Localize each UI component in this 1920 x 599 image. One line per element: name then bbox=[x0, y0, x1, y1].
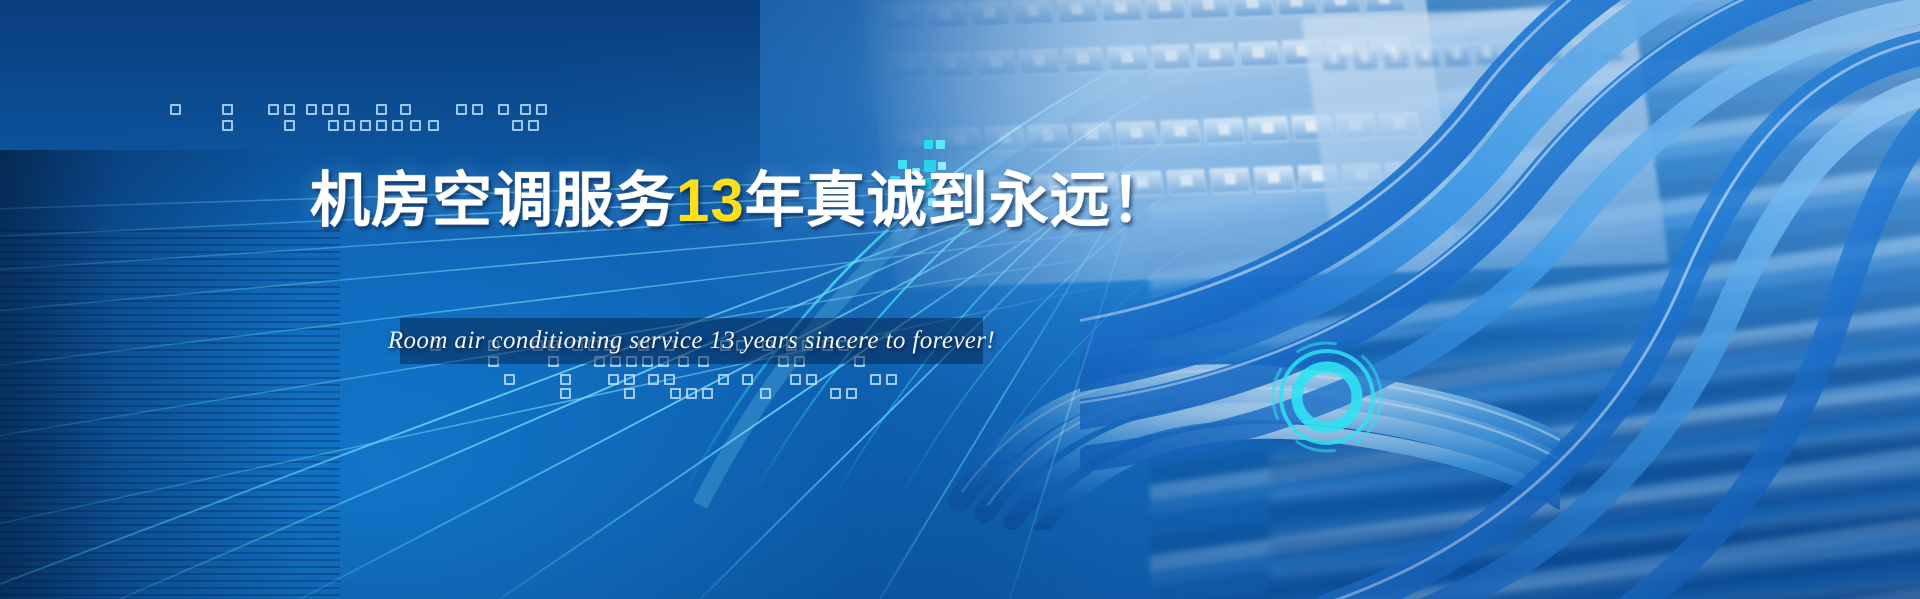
hud-ring bbox=[1268, 338, 1386, 456]
subtitle-text: Room air conditioning service 13 years s… bbox=[388, 327, 995, 355]
page-title: 机房空调服务13年真诚到永远！ bbox=[310, 171, 1172, 231]
square-dot-pattern-top bbox=[160, 100, 580, 140]
photo-haze-overlay bbox=[850, 0, 1920, 599]
headline-prefix: 机房空调服务 bbox=[310, 167, 676, 234]
headline-number: 13 bbox=[676, 167, 745, 234]
headline-suffix: 年真诚到永远！ bbox=[745, 167, 1172, 234]
subtitle-band: Room air conditioning service 13 years s… bbox=[400, 318, 983, 364]
hero-banner: 机房空调服务13年真诚到永远！ Room air conditioning se… bbox=[0, 0, 1920, 599]
server-rack-and-network-cables bbox=[850, 0, 1920, 599]
